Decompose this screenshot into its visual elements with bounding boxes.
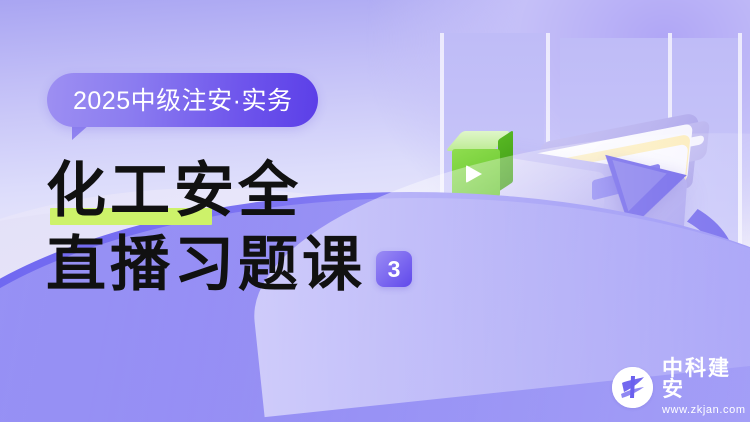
- course-category-badge: 2025中级注安·实务: [47, 73, 318, 127]
- page-title: 化工安全 直播习题课3: [46, 154, 466, 302]
- brand-url: www.zkjan.com: [662, 405, 750, 416]
- title-line-1-text: 化工安全: [46, 158, 302, 224]
- title-line-2: 直播习题课3: [46, 228, 466, 302]
- episode-number-badge: 3: [376, 251, 412, 287]
- brand-name: 中科建安: [662, 358, 750, 400]
- zkjan-logo-icon: [612, 367, 653, 408]
- brand-logo: 中科建安 www.zkjan.com: [612, 358, 750, 416]
- title-line-2-text: 直播习题课: [46, 232, 366, 298]
- course-poster: 2025中级注安·实务 化工安全 直播习题课3 中科建安 www.zkjan.c…: [0, 0, 750, 422]
- title-line-1: 化工安全: [46, 154, 466, 228]
- brand-text: 中科建安 www.zkjan.com: [662, 358, 750, 416]
